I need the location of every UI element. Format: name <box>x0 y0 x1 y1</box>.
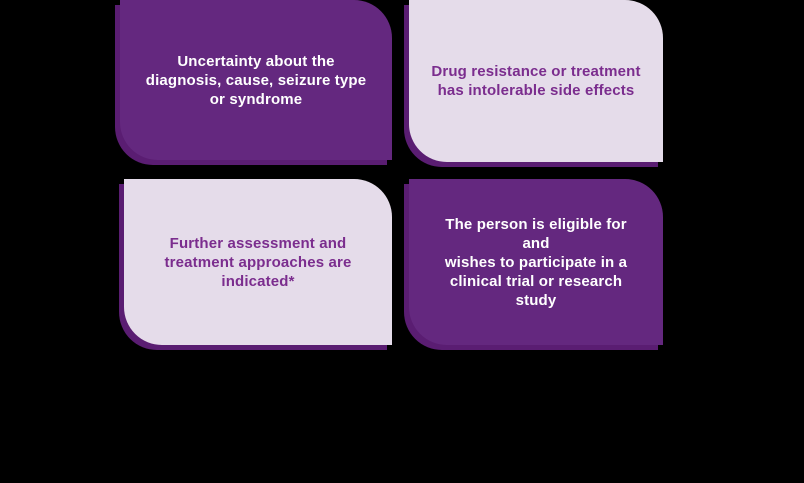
card-clinical-trial-eligible[interactable]: The person is eligible for and wishes to… <box>409 179 663 345</box>
card-label: Drug resistance or treatment has intoler… <box>431 62 640 100</box>
card-slot-clinical-trial-eligible: The person is eligible for and wishes to… <box>409 179 663 345</box>
card-further-assessment[interactable]: Further assessment and treatment approac… <box>124 179 392 345</box>
card-uncertainty-diagnosis[interactable]: Uncertainty about the diagnosis, cause, … <box>120 0 392 160</box>
card-slot-drug-resistance: Drug resistance or treatment has intoler… <box>409 0 663 162</box>
card-slot-further-assessment: Further assessment and treatment approac… <box>124 179 392 345</box>
card-label: Further assessment and treatment approac… <box>164 234 351 291</box>
card-drug-resistance[interactable]: Drug resistance or treatment has intoler… <box>409 0 663 162</box>
card-label: Uncertainty about the diagnosis, cause, … <box>146 52 366 109</box>
card-slot-uncertainty-diagnosis: Uncertainty about the diagnosis, cause, … <box>120 0 392 160</box>
card-label: The person is eligible for and wishes to… <box>431 215 641 310</box>
card-grid-diagram: Uncertainty about the diagnosis, cause, … <box>0 0 804 483</box>
